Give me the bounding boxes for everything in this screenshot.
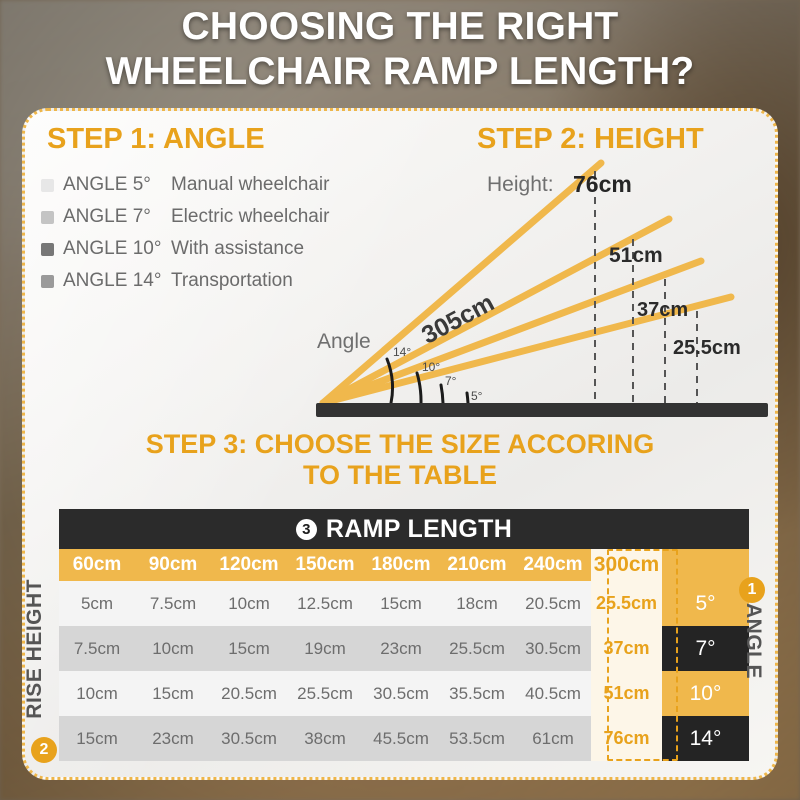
height-label: Height: (487, 173, 554, 197)
col-header: 60cm (59, 549, 135, 581)
angle-mark-14: 14° (393, 345, 411, 359)
cell: 23cm (135, 716, 211, 761)
angle-cell: 7° (662, 626, 749, 671)
page-title: CHOOSING THE RIGHT WHEELCHAIR RAMP LENGT… (0, 4, 800, 94)
cell: 15cm (59, 716, 135, 761)
title-line-1: CHOOSING THE RIGHT (182, 5, 619, 48)
height-callout-37cm: 37cm (637, 299, 688, 322)
cell: 45.5cm (363, 716, 439, 761)
cell: 30.5cm (211, 716, 287, 761)
table-row: 10cm 15cm 20.5cm 25.5cm 30.5cm 35.5cm 40… (59, 671, 749, 716)
step-badge-1: 1 (739, 577, 765, 603)
ramp-length-table-wrap: 3 RAMP LENGTH 60cm 90cm 120cm 150cm 180c… (59, 509, 749, 761)
cell-highlight: 51cm (591, 671, 662, 716)
ground-bar (316, 403, 768, 417)
angle-axis-label-right: ANGLE (741, 603, 765, 679)
angle-cell: 5° (662, 581, 749, 626)
table-title: RAMP LENGTH (326, 515, 512, 544)
height-guides (595, 171, 697, 403)
cell: 30.5cm (363, 671, 439, 716)
col-header: 90cm (135, 549, 211, 581)
rise-height-axis-label: RISE HEIGHT (23, 579, 47, 719)
content-card: STEP 1: ANGLE ANGLE 5° Manual wheelchair… (22, 108, 778, 780)
cell: 53.5cm (439, 716, 515, 761)
ramp-diagram-svg (25, 111, 778, 421)
col-header-highlight: 300cm (591, 549, 662, 581)
cell: 20.5cm (515, 581, 591, 626)
angle-mark-7: 7° (445, 374, 456, 388)
cell: 15cm (135, 671, 211, 716)
cell: 7.5cm (135, 581, 211, 626)
step-badge-2: 2 (31, 737, 57, 763)
cell: 18cm (439, 581, 515, 626)
table-title-bar: 3 RAMP LENGTH (59, 509, 749, 549)
col-header: 180cm (363, 549, 439, 581)
cell: 25.5cm (439, 626, 515, 671)
table-row: 15cm 23cm 30.5cm 38cm 45.5cm 53.5cm 61cm… (59, 716, 749, 761)
cell: 38cm (287, 716, 363, 761)
angle-col-header-spacer (662, 549, 749, 581)
step3-heading: STEP 3: CHOOSE THE SIZE ACCORING TO THE … (25, 429, 775, 491)
step3-heading-line-2: TO THE TABLE (303, 460, 497, 490)
step3-heading-line-1: STEP 3: CHOOSE THE SIZE ACCORING (146, 429, 655, 459)
ramp-angle-diagram: Height: 76cm 305cm 51cm 37cm 25.5cm Angl… (25, 111, 778, 421)
step-badge-3: 3 (296, 519, 317, 540)
cell: 10cm (135, 626, 211, 671)
cell: 12.5cm (287, 581, 363, 626)
col-header: 210cm (439, 549, 515, 581)
arc-7deg (441, 385, 443, 403)
table-header-row: 60cm 90cm 120cm 150cm 180cm 210cm 240cm … (59, 549, 749, 581)
angle-axis-label: Angle (317, 330, 371, 354)
cell: 20.5cm (211, 671, 287, 716)
cell-highlight: 25.5cm (591, 581, 662, 626)
cell: 5cm (59, 581, 135, 626)
height-value: 76cm (573, 171, 632, 198)
angle-mark-5: 5° (471, 389, 482, 403)
angle-mark-10: 10° (422, 360, 440, 374)
arc-5deg (467, 393, 468, 403)
height-callout-51cm: 51cm (609, 244, 663, 268)
cell: 25.5cm (287, 671, 363, 716)
cell: 7.5cm (59, 626, 135, 671)
table-row: 5cm 7.5cm 10cm 12.5cm 15cm 18cm 20.5cm 2… (59, 581, 749, 626)
cell: 35.5cm (439, 671, 515, 716)
col-header: 150cm (287, 549, 363, 581)
col-header: 240cm (515, 549, 591, 581)
ramp-length-table: 60cm 90cm 120cm 150cm 180cm 210cm 240cm … (59, 549, 749, 761)
col-header: 120cm (211, 549, 287, 581)
cell-highlight: 76cm (591, 716, 662, 761)
cell: 23cm (363, 626, 439, 671)
cell: 40.5cm (515, 671, 591, 716)
cell-highlight: 37cm (591, 626, 662, 671)
cell: 15cm (211, 626, 287, 671)
cell: 15cm (363, 581, 439, 626)
cell: 19cm (287, 626, 363, 671)
angle-cell: 14° (662, 716, 749, 761)
cell: 10cm (211, 581, 287, 626)
height-callout-25-5cm: 25.5cm (673, 337, 741, 360)
angle-cell: 10° (662, 671, 749, 716)
table-row: 7.5cm 10cm 15cm 19cm 23cm 25.5cm 30.5cm … (59, 626, 749, 671)
ray-7deg (323, 261, 701, 403)
cell: 30.5cm (515, 626, 591, 671)
cell: 10cm (59, 671, 135, 716)
cell: 61cm (515, 716, 591, 761)
ramp-rays (323, 163, 731, 403)
title-line-2: WHEELCHAIR RAMP LENGTH? (0, 49, 800, 94)
